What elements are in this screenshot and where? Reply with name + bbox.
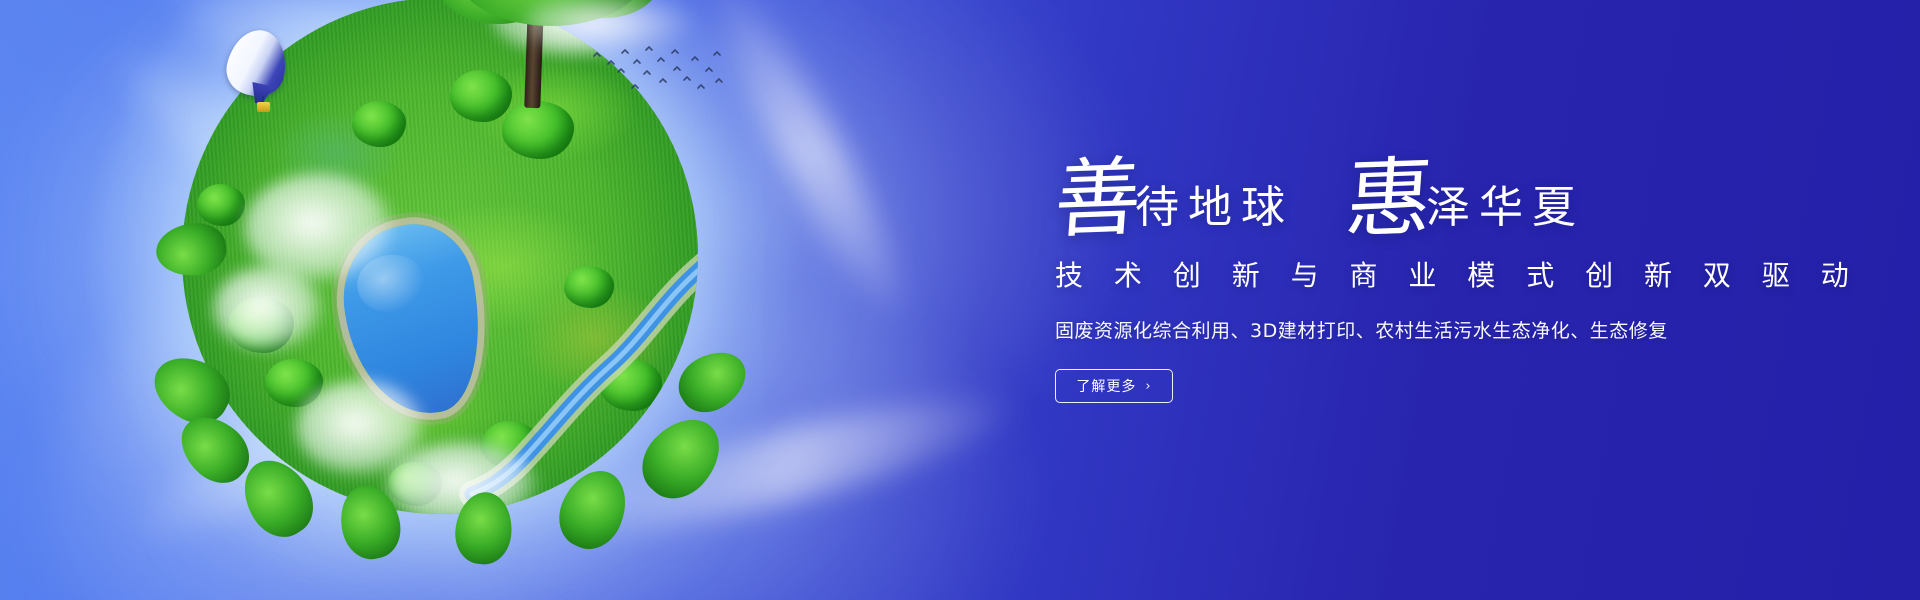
- headline-lead-2: 惠: [1343, 158, 1435, 242]
- hot-air-balloon-icon: [228, 30, 294, 122]
- bird-flock-icon: [588, 44, 728, 100]
- rim-tree: [452, 489, 515, 566]
- banner-subtitle: 技 术 创 新 与 商 业 模 式 创 新 双 驱 动: [1055, 254, 1755, 294]
- balloon-basket: [257, 102, 270, 112]
- learn-more-label: 了解更多: [1076, 376, 1136, 396]
- rim-tree: [154, 220, 229, 279]
- banner-description: 固废资源化综合利用、3D建材打印、农村生活污水生态净化、生态修复: [1055, 316, 1755, 343]
- hero-banner: 善 待地球 惠 泽华夏 技 术 创 新 与 商 业 模 式 创 新 双 驱 动 …: [0, 0, 1920, 600]
- headline-lead-1: 善: [1052, 158, 1144, 242]
- tree-clump: [502, 101, 574, 159]
- banner-content: 善 待地球 惠 泽华夏 技 术 创 新 与 商 业 模 式 创 新 双 驱 动 …: [1055, 128, 1755, 403]
- learn-more-button[interactable]: 了解更多 ›: [1055, 369, 1173, 403]
- planet-cloud: [213, 266, 323, 352]
- page-title: 善 待地球 惠 泽华夏: [1055, 128, 1755, 240]
- headline-rest-2: 泽华夏: [1426, 186, 1585, 240]
- headline-rest-1: 待地球: [1135, 186, 1294, 240]
- chevron-right-icon: ›: [1145, 379, 1151, 394]
